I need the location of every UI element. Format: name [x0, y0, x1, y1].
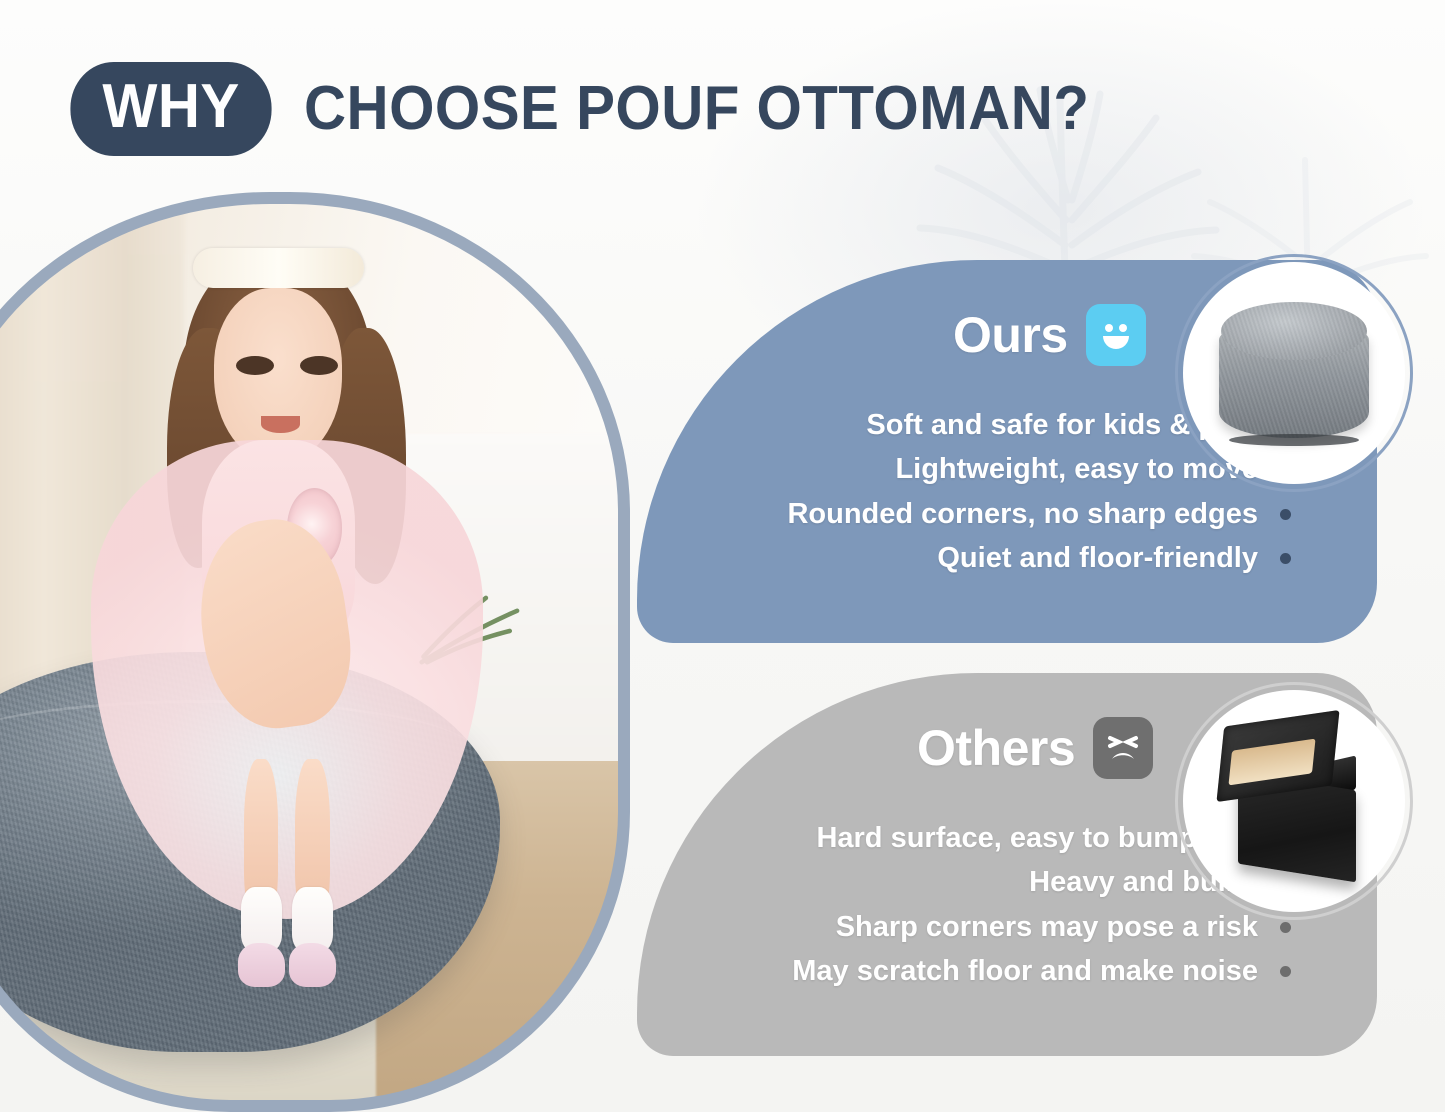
drawback-text: May scratch floor and make noise — [792, 956, 1258, 986]
list-item: Quiet and floor-friendly — [937, 543, 1291, 573]
square-storage-ottoman-product-image — [1214, 719, 1374, 884]
pouf-top — [1221, 302, 1367, 360]
product-medallion-others — [1183, 690, 1405, 912]
infographic-canvas: WHY CHOOSE POUF OTTOMAN? — [0, 0, 1445, 1112]
page-header: WHY CHOOSE POUF OTTOMAN? — [64, 62, 1140, 156]
list-item: Rounded corners, no sharp edges — [787, 499, 1291, 529]
drawback-text: Sharp corners may pose a risk — [836, 912, 1258, 942]
benefit-text: Lightweight, easy to move — [895, 454, 1258, 484]
bullet-dot-icon — [1280, 922, 1291, 933]
list-item: Sharp corners may pose a risk — [836, 912, 1291, 942]
card-title-others: Others — [917, 723, 1075, 773]
frowning-face-icon — [1093, 717, 1153, 779]
benefit-text: Rounded corners, no sharp edges — [787, 499, 1258, 529]
card-heading-others: Others — [917, 717, 1153, 779]
list-item: May scratch floor and make noise — [792, 956, 1291, 986]
bullet-dot-icon — [1280, 509, 1291, 520]
card-title-ours: Ours — [953, 310, 1068, 360]
why-badge: WHY — [70, 62, 271, 156]
page-title: CHOOSE POUF OTTOMAN? — [304, 78, 1089, 140]
bullet-dot-icon — [1280, 553, 1291, 564]
photo-frame-border — [0, 192, 630, 1112]
smiling-face-icon — [1086, 304, 1146, 366]
pouf-base-shadow — [1229, 434, 1359, 446]
lifestyle-photo — [0, 192, 630, 1112]
benefit-text: Quiet and floor-friendly — [937, 543, 1258, 573]
round-pouf-product-image — [1219, 302, 1369, 444]
card-heading-ours: Ours — [953, 304, 1146, 366]
pouf-top-texture — [1221, 302, 1367, 360]
product-medallion-ours — [1183, 262, 1405, 484]
bullet-dot-icon — [1280, 966, 1291, 977]
